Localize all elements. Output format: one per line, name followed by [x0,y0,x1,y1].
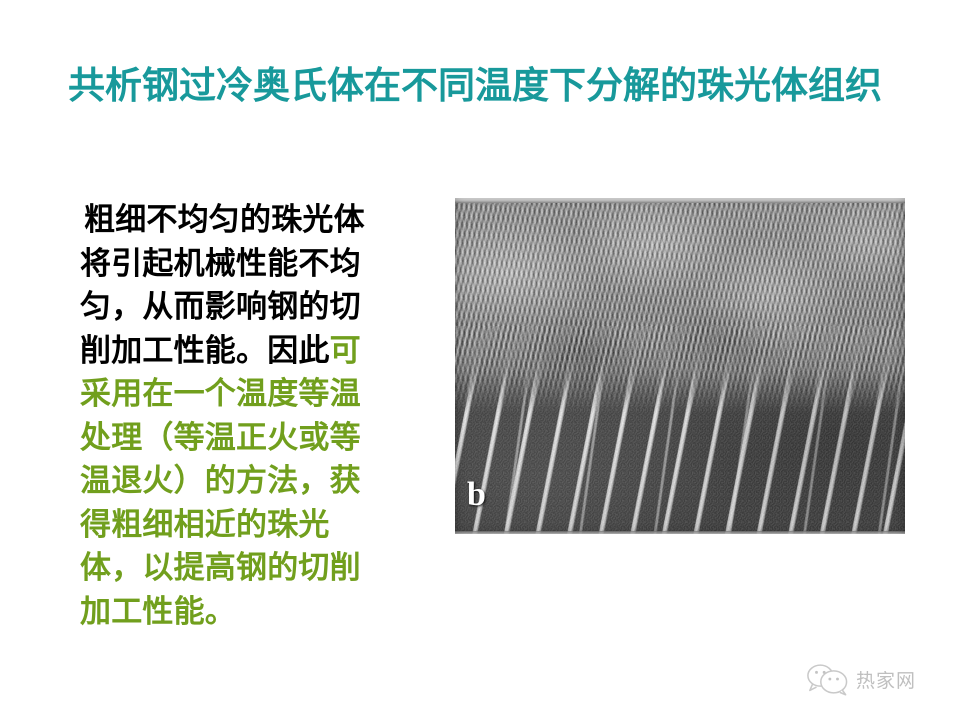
watermark-label: 热家网 [856,666,916,693]
body-line: 加工性能。 [80,590,398,634]
body-line-segment: 温退火）的方法，获 [80,463,361,498]
watermark: 热家网 [806,662,916,696]
body-line-segment: 采用在一个温度等温 [80,376,361,411]
body-line-segment: 粗细不均匀的珠光体 [84,202,365,237]
slide-canvas: 共析钢过冷奥氏体在不同温度下分解的珠光体组织 粗细不均匀的珠光体 将引起机械性能… [0,0,960,720]
micrograph-bottom-edge [455,531,905,534]
body-line-segment: 体，以提高钢的切削 [80,550,361,585]
body-text-block: 粗细不均匀的珠光体 将引起机械性能不均 匀，从而影响钢的切 削加工性能。因此可 … [80,198,398,633]
body-line: 温退火）的方法，获 [80,459,398,503]
body-line-segment: 可 [330,333,361,368]
body-line-segment: 处理（等温正火或等 [80,420,361,455]
body-line-segment: 将引起机械性能不均 [80,246,361,281]
page-title: 共析钢过冷奥氏体在不同温度下分解的珠光体组织 [68,64,928,108]
body-line-segment: 加工性能。 [80,594,236,629]
body-line: 粗细不均匀的珠光体 [80,198,398,242]
body-line-segment: 得粗细相近的珠光 [80,507,330,542]
body-line: 削加工性能。因此可 [80,329,398,373]
body-line-segment: 匀，从而影响钢的切 [80,289,361,324]
micrograph-zone-boundary [455,326,905,400]
body-line: 采用在一个温度等温 [80,372,398,416]
micrograph-top-edge [455,198,905,203]
body-line: 匀，从而影响钢的切 [80,285,398,329]
body-line: 将引起机械性能不均 [80,242,398,286]
pearlite-micrograph-image: b [455,198,905,534]
body-line: 体，以提高钢的切削 [80,546,398,590]
body-line: 处理（等温正火或等 [80,416,398,460]
wechat-icon [806,662,848,696]
body-line-segment: 削加工性能。因此 [80,333,330,368]
micrograph-panel-label: b [467,478,486,512]
body-line: 得粗细相近的珠光 [80,503,398,547]
